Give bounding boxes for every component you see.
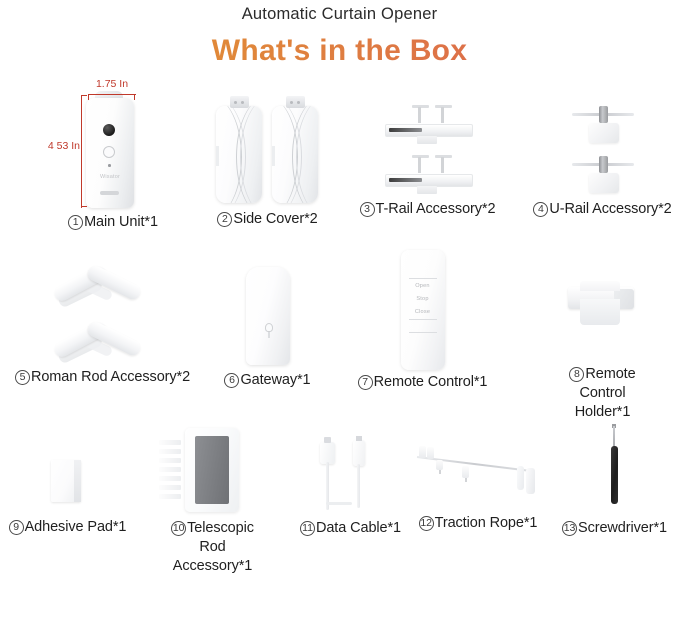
roman-rod-piece: [49, 255, 141, 303]
item-caption: 7Remote Control*1: [345, 373, 500, 392]
t-rail-piece: [379, 152, 475, 194]
item-remote-control: Open Stop Close 7Remote Control*1: [345, 248, 500, 392]
item-t-rail-accessory: 3T-Rail Accessory*2: [345, 100, 510, 219]
gateway-illustration: [228, 261, 308, 371]
item-number: 13: [562, 521, 577, 536]
item-caption: 6Gateway*1: [205, 371, 330, 390]
traction-rope-illustration: [413, 424, 543, 514]
item-label: Adhesive Pad*1: [25, 519, 127, 535]
rack-tooth: [159, 467, 181, 472]
side-cover-tab: [216, 146, 219, 166]
item-caption: 11Data Cable*1: [283, 519, 418, 538]
item-number: 6: [224, 373, 239, 388]
main-unit-illustration: Wisator 1.75 In 4 53 In: [48, 78, 178, 213]
item-number: 7: [358, 375, 373, 390]
t-rail-illustration: [373, 100, 483, 200]
micro-usb-connector: [353, 440, 365, 466]
t-rail-hook: [412, 155, 429, 173]
roman-rod-illustration: [43, 253, 163, 368]
item-data-cable: 11Data Cable*1: [283, 424, 418, 538]
remote-key-open: Open: [409, 281, 437, 292]
item-label: Screwdriver*1: [578, 520, 667, 536]
item-label: U-Rail Accessory*2: [549, 201, 671, 217]
t-rail-foot: [417, 136, 437, 144]
items-row-2: 5Roman Rod Accessory*2 6Gateway*1 Open S…: [0, 243, 679, 418]
item-number: 10: [171, 521, 186, 536]
screwdriver-handle: [611, 446, 618, 504]
main-unit-slot: [100, 191, 119, 195]
item-number: 8: [569, 367, 584, 382]
item-number: 9: [9, 520, 24, 535]
telescopic-rod-illustration: [173, 424, 253, 519]
remote-holder-illustration: [558, 255, 648, 365]
u-rail-pad: [589, 173, 619, 193]
gateway-body: [246, 267, 290, 365]
item-caption: 4U-Rail Accessory*2: [525, 200, 679, 219]
u-rail-pad: [589, 123, 619, 143]
width-dimension-label: 1.75 In: [82, 78, 142, 90]
height-dimension-line: [81, 95, 87, 207]
u-rail-clip: [599, 156, 608, 173]
item-remote-control-holder: 8Remote Control Holder*1: [530, 255, 675, 422]
rack-tooth: [159, 440, 181, 445]
t-rail-track: [389, 178, 422, 182]
holder-pocket: [580, 299, 620, 325]
item-caption: 10Telescopic Rod Accessory*1: [140, 519, 285, 576]
t-rail-hook: [435, 155, 452, 173]
adhesive-pad-illustration: [33, 428, 103, 518]
u-rail-piece: [572, 100, 634, 144]
remote-control-illustration: Open Stop Close: [383, 248, 463, 373]
item-adhesive-pad: 9Adhesive Pad*1: [0, 428, 135, 537]
sensor-lens-icon: [103, 124, 115, 136]
item-caption: 3T-Rail Accessory*2: [345, 200, 510, 219]
item-screwdriver: 13Screwdriver*1: [550, 424, 679, 538]
item-traction-rope: 12Traction Rope*1: [408, 424, 548, 533]
subtitle: Automatic Curtain Opener: [0, 0, 679, 26]
item-label: Roman Rod Accessory*2: [31, 369, 190, 385]
item-caption: 2Side Cover*2: [205, 210, 330, 229]
t-rail-piece: [379, 102, 475, 144]
side-cover-illustration: [208, 92, 328, 210]
gateway-led-icon: [265, 323, 273, 332]
usb-connector: [320, 442, 335, 464]
item-label: Traction Rope*1: [435, 515, 538, 531]
roman-rod-piece: [49, 311, 141, 359]
t-rail-foot: [417, 186, 437, 194]
item-gateway: 6Gateway*1: [205, 261, 330, 390]
u-rail-piece: [572, 150, 634, 194]
side-cover-left: [216, 106, 262, 203]
item-label: Gateway*1: [240, 372, 310, 388]
t-rail-track: [389, 128, 422, 132]
t-rail-hook: [412, 105, 429, 123]
side-cover-clip: [230, 96, 249, 108]
data-cable-illustration: [306, 424, 396, 519]
screwdriver-shaft: [613, 426, 615, 448]
rope-weight: [517, 466, 524, 490]
item-u-rail-accessory: 4U-Rail Accessory*2: [525, 100, 679, 219]
item-caption: 1Main Unit*1: [38, 213, 188, 232]
side-cover-clip: [286, 96, 305, 108]
item-number: 11: [300, 521, 315, 536]
t-rail-hook: [435, 105, 452, 123]
telescopic-rack: [195, 436, 229, 504]
item-number: 1: [68, 215, 83, 230]
rope-cap: [436, 460, 443, 470]
item-caption: 8Remote Control Holder*1: [530, 365, 675, 422]
item-main-unit: Wisator 1.75 In 4 53 In 1Main Unit*1: [38, 78, 188, 232]
holder-top: [580, 281, 620, 291]
rack-tooth: [159, 449, 181, 454]
item-telescopic-rod-accessory: 10Telescopic Rod Accessory*1: [140, 424, 285, 576]
item-label: Remote Control*1: [374, 374, 488, 390]
item-number: 2: [217, 212, 232, 227]
remote-key-stop: Stop: [409, 294, 437, 305]
item-caption: 9Adhesive Pad*1: [0, 518, 135, 537]
remote-divider: [409, 278, 437, 279]
width-dimension-line: [88, 94, 135, 100]
rope-weight: [526, 468, 535, 494]
rack-tooth: [159, 476, 181, 481]
u-rail-illustration: [558, 100, 648, 200]
items-row-1: Wisator 1.75 In 4 53 In 1Main Unit*1: [0, 78, 679, 243]
remote-key-close: Close: [409, 307, 437, 318]
item-label: Side Cover*2: [233, 211, 317, 227]
power-button-icon: [103, 146, 115, 158]
item-label: Data Cable*1: [316, 520, 401, 536]
item-side-cover: 2Side Cover*2: [205, 92, 330, 229]
item-number: 5: [15, 370, 30, 385]
adhesive-pad-body: [51, 460, 81, 502]
item-number: 12: [419, 516, 434, 531]
rope-cap: [427, 447, 434, 459]
rack-tooth: [159, 458, 181, 463]
items-row-3: 9Adhesive Pad*1 10Telescopic Rod Accesso…: [0, 418, 679, 588]
rack-tooth: [159, 494, 181, 499]
side-cover-right: [272, 106, 318, 203]
remote-divider: [409, 319, 437, 320]
item-caption: 12Traction Rope*1: [408, 514, 548, 533]
cable-cord: [326, 462, 329, 510]
rope-cap: [462, 466, 469, 478]
rack-tooth: [159, 485, 181, 490]
item-roman-rod-accessory: 5Roman Rod Accessory*2: [5, 253, 200, 387]
item-label: Main Unit*1: [84, 214, 158, 230]
height-dimension-label: 4 53 In: [32, 140, 80, 152]
brand-logo: Wisator: [93, 174, 127, 181]
item-caption: 13Screwdriver*1: [550, 519, 679, 538]
indicator-dot-icon: [108, 164, 111, 167]
item-number: 4: [533, 202, 548, 217]
rope-cap: [419, 446, 426, 458]
item-caption: 5Roman Rod Accessory*2: [5, 368, 200, 387]
u-rail-clip: [599, 106, 608, 123]
item-label: T-Rail Accessory*2: [376, 201, 496, 217]
remote-divider: [409, 332, 437, 333]
screwdriver-illustration: [590, 424, 640, 519]
cable-cord: [357, 464, 360, 508]
item-number: 3: [360, 202, 375, 217]
side-cover-tab: [272, 146, 275, 166]
page-title: What's in the Box: [0, 26, 679, 78]
